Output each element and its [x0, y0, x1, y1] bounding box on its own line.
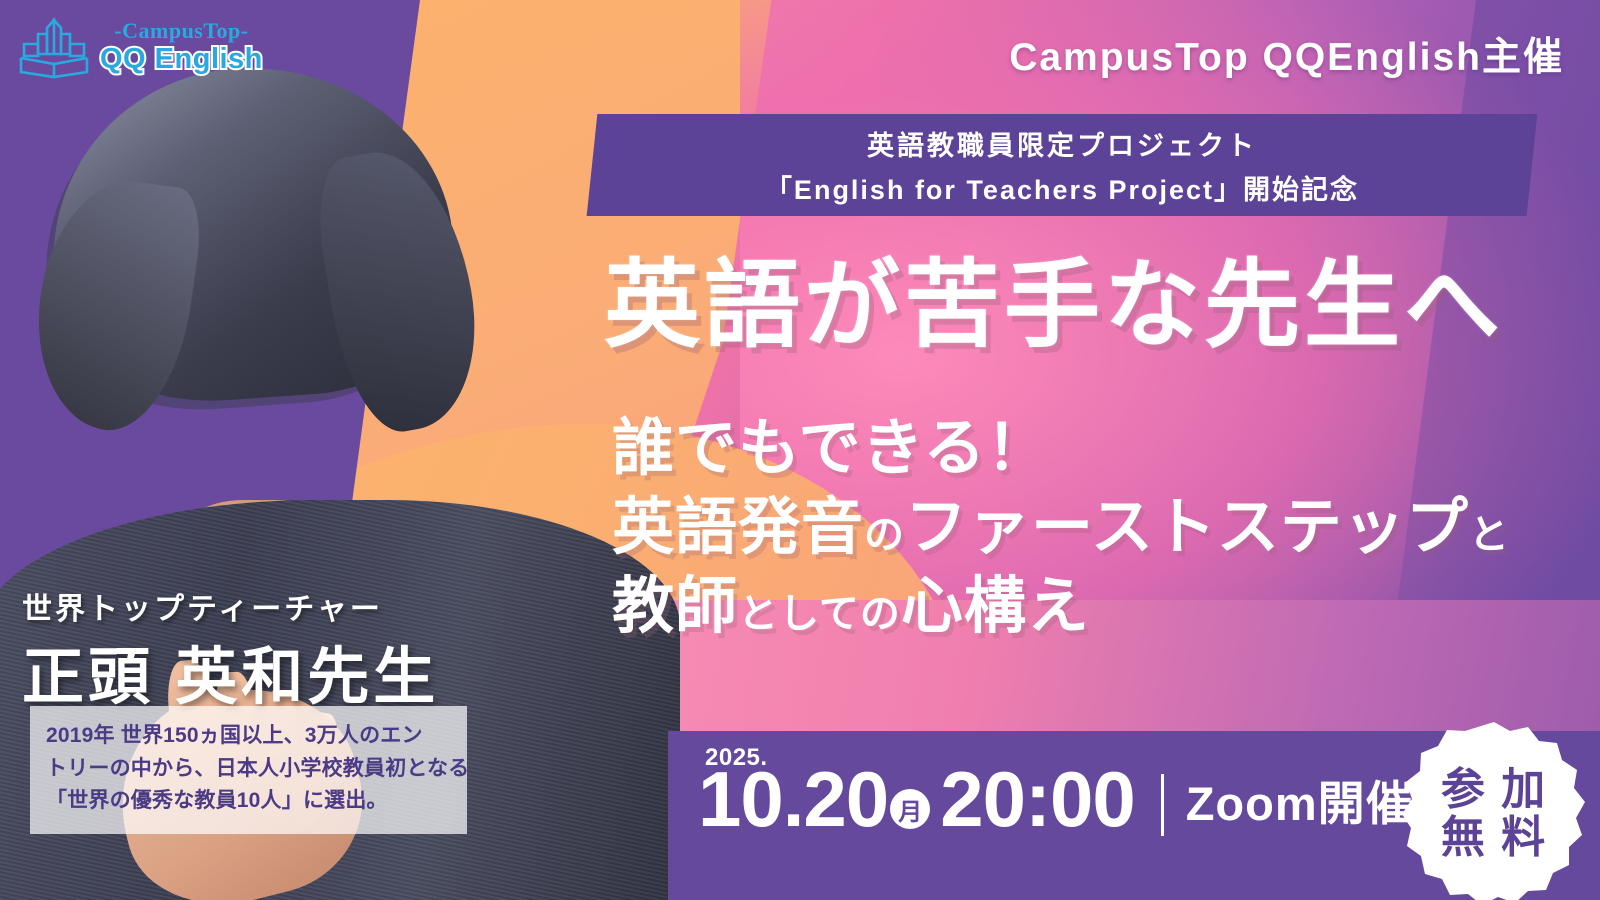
speaker-bio: 2019年 世界150ヵ国以上、3万人のエン トリーの中から、日本人小学校教員初… [30, 706, 467, 834]
project-badge-line-1: 英語教職員限定プロジェクト [867, 124, 1257, 163]
subheadline-line-3a: 教師 [612, 572, 738, 641]
speaker-bio-line-2: トリーの中から、日本人小学校教員初となる [46, 753, 451, 786]
subheadline: 誰でもできる！ 英語発音のファーストステップと 教師としての心構え [612, 412, 1510, 649]
subheadline-line-2c: ファーストステップ [905, 493, 1469, 562]
speaker-role: 世界トップティーチャー [22, 584, 383, 628]
campus-building-book-icon [16, 14, 92, 80]
project-badge-line-2: 「English for Teachers Project」開始記念 [765, 168, 1359, 207]
project-badge: 英語教職員限定プロジェクト 「English for Teachers Proj… [587, 114, 1538, 216]
subheadline-line-3c: 心構え [901, 572, 1090, 641]
free-participation-seal: 参 加 無 料 [1398, 718, 1590, 900]
logo-tagline: -CampusTop- [114, 20, 248, 42]
event-platform: Zoom開催 [1186, 765, 1414, 834]
host-label: CampusTop QQEnglish主催 [1009, 26, 1564, 82]
subheadline-line-3b: としての [738, 592, 901, 636]
subheadline-line-2a: 英語発音 [612, 493, 864, 562]
main-headline: 英語が苦手な先生へ [604, 258, 1504, 354]
speaker-name: 正頭 英和先生 [22, 626, 439, 716]
speaker-hair-side [23, 171, 206, 439]
event-time: 20:00 [940, 760, 1135, 838]
event-date: 10.20 [698, 760, 888, 838]
day-of-week-badge: 月 [890, 789, 930, 829]
seal-line-2: 無 料 [1441, 815, 1547, 861]
speaker-bio-line-1: 2019年 世界150ヵ国以上、3万人のエン [46, 720, 451, 753]
promo-banner: -CampusTop- QQ English CampusTop QQEngli… [0, 0, 1600, 900]
subheadline-line-1: 誰でもできる！ [612, 414, 1049, 483]
event-datetime: 10.20 月 20:00 Zoom開催 [698, 760, 1414, 838]
speaker-hair-back [307, 140, 493, 440]
subheadline-line-2b: の [864, 513, 905, 557]
brand-logo: -CampusTop- QQ English [16, 14, 263, 80]
speaker-bio-line-3: 「世界の優秀な教員10人」に選出。 [46, 785, 451, 818]
divider [1161, 774, 1164, 836]
logo-name: QQ English [100, 45, 263, 74]
seal-line-1: 参 加 [1441, 767, 1547, 813]
subheadline-line-2d: と [1469, 513, 1510, 557]
